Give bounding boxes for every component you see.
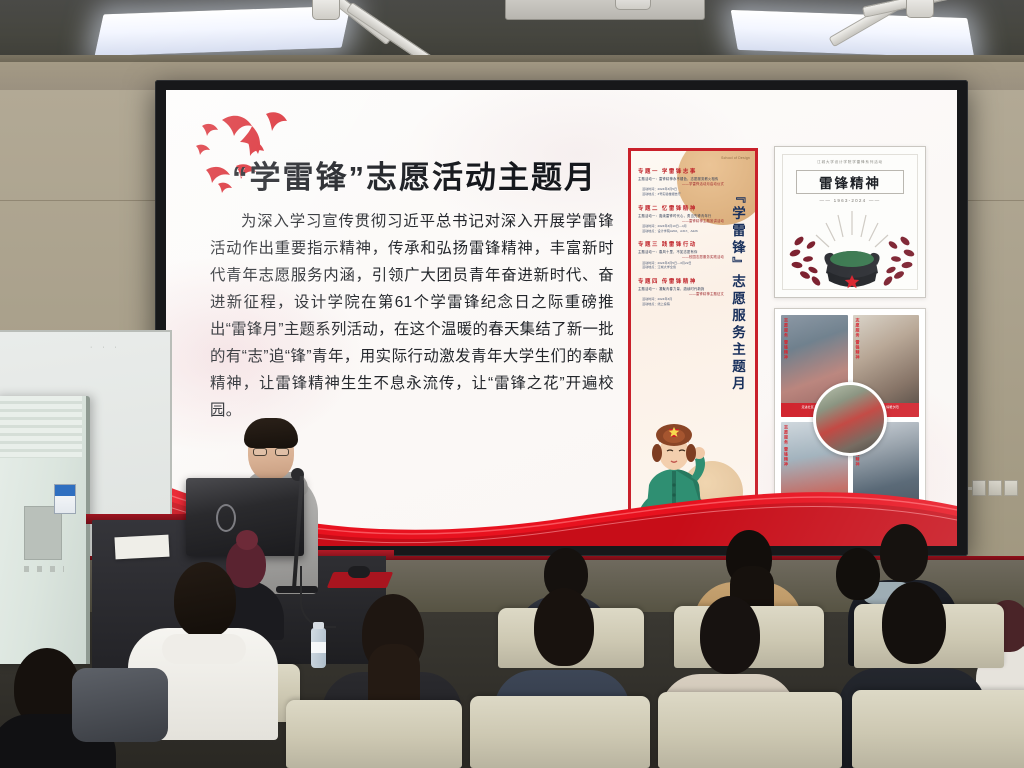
schedule-meta: 活动地点：线上投稿 xyxy=(638,302,724,307)
hoodie-hood xyxy=(162,634,246,664)
photo-watermark: 志愿服务 雷锋精神 xyxy=(856,318,861,360)
air-conditioner-unit xyxy=(0,396,90,664)
glasses-icon xyxy=(253,448,289,456)
chair xyxy=(852,690,1024,768)
chair xyxy=(658,692,842,768)
presenter-hair xyxy=(244,418,298,448)
spirit-card-years: —— 1963-2024 —— xyxy=(783,198,917,203)
spirit-card-subheader: 江城大学设计学院学雷锋系列活动 xyxy=(783,160,917,165)
wall-power-outlets[interactable] xyxy=(972,480,1018,496)
computer-mouse[interactable] xyxy=(348,566,370,578)
schedule-heading: 专题二 忆雷锋精神 xyxy=(638,204,724,212)
backpack xyxy=(72,668,168,742)
whiteboard-marks: · · · xyxy=(90,344,121,351)
schedule-meta: 活动地点：设计学院A202、A317、A226 xyxy=(638,229,724,234)
dell-logo-icon xyxy=(216,504,236,532)
ac-indicator-lights xyxy=(24,566,64,572)
chair xyxy=(286,700,462,768)
schedule-meta: 活动地点：3号实验楼报告厅 xyxy=(638,192,724,197)
slide-title: “学雷锋”志愿活动主题月 xyxy=(232,152,597,197)
schedule-group: 专题二 忆雷锋精神 主题活动一：赓续雷锋时代心，勇当先锋青年行 ——雷锋精神主题… xyxy=(638,204,724,234)
poster-vertical-title: 『学雷锋』志愿服务主题月 xyxy=(725,189,747,393)
schedule-heading: 专题四 传雷锋精神 xyxy=(638,277,724,285)
chair xyxy=(470,696,650,768)
ac-vent xyxy=(0,396,82,458)
schedule-meta: 活动地点：江城大学全境 xyxy=(638,265,724,270)
ac-display-panel[interactable] xyxy=(24,506,62,560)
ac-energy-label xyxy=(54,484,76,514)
schedule-group: 专题三 践雷锋行动 主题活动一：春风十里，不如志愿有你 ——校园志愿服务实践活动… xyxy=(638,240,724,270)
school-logo: School of Design xyxy=(721,156,750,161)
schedule-group: 专题一 学雷锋志事 主题活动一：雷锋精神永不褪色，志愿服务薪火相传 ——学雷锋活… xyxy=(638,167,724,197)
spirit-card: 江城大学设计学院学雷锋系列活动 雷锋精神 —— 1963-2024 —— xyxy=(774,146,926,298)
military-cap-laurel-icon xyxy=(783,207,917,293)
lecture-hall-scene: “学雷锋”志愿活动主题月 为深入学习宣传贯彻习近平总书记对深入开展学雷锋活动作出… xyxy=(0,0,1024,768)
photo-watermark: 志愿服务 雷锋精神 xyxy=(784,318,789,360)
schedule-heading: 专题三 践雷锋行动 xyxy=(638,240,724,248)
slide-body-text: 为深入学习宣传贯彻习近平总书记对深入开展学雷锋活动作出重要指示精神，传承和弘扬雷… xyxy=(210,208,614,424)
collage-center-photo xyxy=(813,382,887,456)
schedule-heading: 专题一 学雷锋志事 xyxy=(638,167,724,175)
ceiling-fan-icon xyxy=(505,0,705,30)
papers-on-podium xyxy=(114,535,169,560)
poster-schedule-list: 专题一 学雷锋志事 主题活动一：雷锋精神永不褪色，志愿服务薪火相传 ——学雷锋活… xyxy=(638,167,724,313)
schedule-group: 专题四 传雷锋精神 主题活动一：凝聚青春力量，赓续时代新篇 ——雷锋精神主题征文… xyxy=(638,277,724,307)
spirit-card-title: 雷锋精神 xyxy=(819,172,881,192)
